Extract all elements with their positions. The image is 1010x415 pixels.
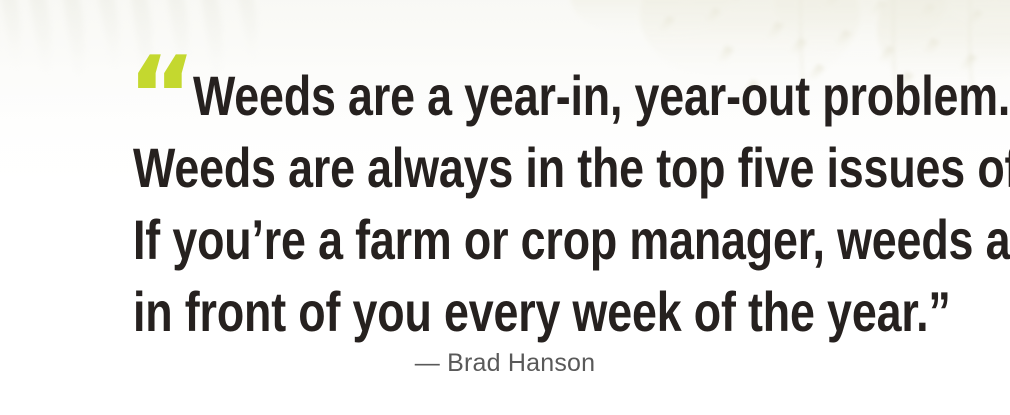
quote-line-3: If you’re a farm or crop manager, weeds … — [133, 204, 877, 276]
pull-quote-banner: “Weeds are a year-in, year-out problem. … — [0, 0, 1010, 415]
quote-line-1: “Weeds are a year-in, year-out problem. — [133, 60, 877, 132]
quote-line-4: in front of you every week of the year.” — [133, 276, 877, 348]
pull-quote-content: “Weeds are a year-in, year-out problem. … — [0, 0, 1010, 415]
quote-text: “Weeds are a year-in, year-out problem. … — [133, 60, 877, 348]
quote-block: “Weeds are a year-in, year-out problem. … — [40, 60, 970, 348]
quote-line-2: Weeds are always in the top five issues … — [133, 132, 877, 204]
quote-attribution: — Brad Hanson — [0, 348, 1010, 378]
quote-line-1-text: Weeds are a year-in, year-out problem. — [193, 64, 1010, 127]
